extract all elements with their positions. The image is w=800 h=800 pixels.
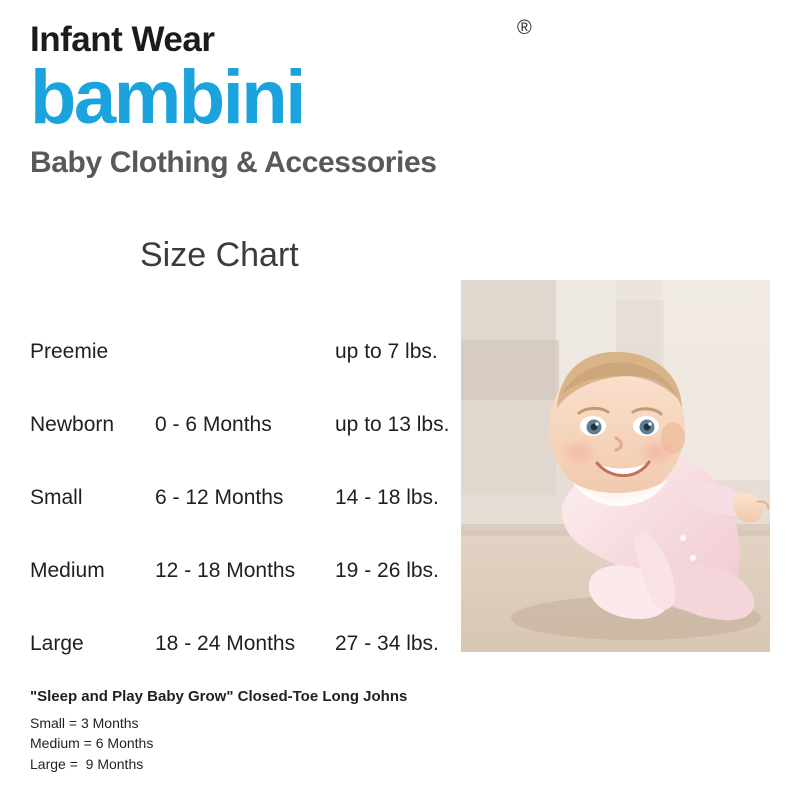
baby-photo (461, 280, 770, 652)
brand-name: bambini (30, 62, 590, 140)
size-name-cell: Large (30, 607, 155, 680)
size-chart-table: Preemie up to 7 lbs. Newborn 0 - 6 Month… (30, 315, 460, 680)
baby-crawling-illustration (461, 280, 770, 652)
page-title: Size Chart (140, 236, 299, 275)
footnote-line: Large = 9 Months (30, 754, 630, 774)
footnote-line: Small = 3 Months (30, 713, 630, 733)
brand-tagline-bottom: Baby Clothing & Accessories (30, 146, 590, 180)
size-chart-page: Infant Wear ® bambini Baby Clothing & Ac… (0, 0, 800, 800)
size-weight-cell: 19 - 26 lbs. (335, 534, 460, 607)
size-age-cell: 18 - 24 Months (155, 607, 335, 680)
size-weight-cell: up to 13 lbs. (335, 388, 460, 461)
size-name-cell: Preemie (30, 315, 155, 388)
size-name-cell: Medium (30, 534, 155, 607)
table-row: Newborn 0 - 6 Months up to 13 lbs. (30, 388, 460, 461)
size-name-cell: Small (30, 461, 155, 534)
footnote-line: Medium = 6 Months (30, 733, 630, 753)
size-weight-cell: 14 - 18 lbs. (335, 461, 460, 534)
table-row: Preemie up to 7 lbs. (30, 315, 460, 388)
size-weight-cell: 27 - 34 lbs. (335, 607, 460, 680)
size-name-cell: Newborn (30, 388, 155, 461)
size-age-cell: 0 - 6 Months (155, 388, 335, 461)
brand-tagline-top-text: Infant Wear (30, 20, 214, 59)
table-row: Medium 12 - 18 Months 19 - 26 lbs. (30, 534, 460, 607)
size-age-cell: 6 - 12 Months (155, 461, 335, 534)
table-row: Small 6 - 12 Months 14 - 18 lbs. (30, 461, 460, 534)
size-age-cell (155, 315, 335, 388)
size-age-cell: 12 - 18 Months (155, 534, 335, 607)
footnote-title: "Sleep and Play Baby Grow" Closed-Toe Lo… (30, 688, 630, 705)
footnote: "Sleep and Play Baby Grow" Closed-Toe Lo… (30, 688, 630, 774)
brand-tagline-top: Infant Wear ® (30, 22, 590, 60)
size-weight-cell: up to 7 lbs. (335, 315, 460, 388)
table-row: Large 18 - 24 Months 27 - 34 lbs. (30, 607, 460, 680)
registered-trademark-icon: ® (517, 18, 531, 38)
brand-header: Infant Wear ® bambini Baby Clothing & Ac… (30, 22, 590, 180)
